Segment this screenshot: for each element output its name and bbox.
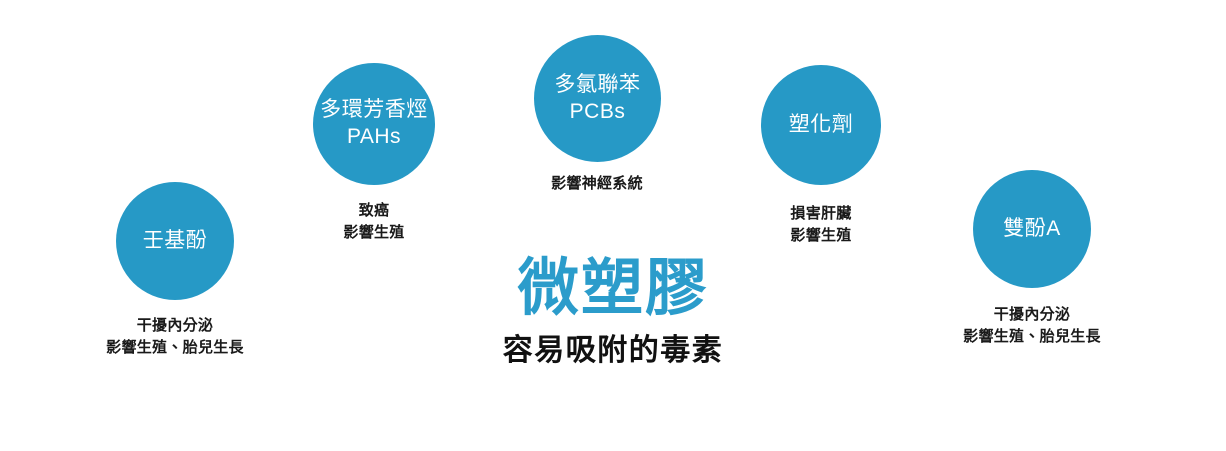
toxin-caption-nonylphenol: 干擾內分泌 影響生殖、胎兒生長 [55, 315, 295, 359]
page-title: 微塑膠 [413, 258, 813, 320]
toxin-bubble-label: 雙酚A [997, 216, 1067, 243]
toxin-bubble-pahs[interactable]: 多環芳香烴 PAHs [313, 63, 435, 185]
toxin-bubble-nonylphenol[interactable]: 壬基酚 [116, 182, 234, 300]
toxin-bubble-label: 多氯聯苯 PCBs [549, 72, 647, 126]
infographic-canvas: 壬基酚 干擾內分泌 影響生殖、胎兒生長 多環芳香烴 PAHs 致癌 影響生殖 多… [0, 0, 1226, 451]
toxin-bubble-plasticizer[interactable]: 塑化劑 [761, 65, 881, 185]
toxin-bubble-label: 壬基酚 [137, 228, 214, 255]
toxin-bubble-label: 塑化劑 [783, 112, 860, 139]
toxin-bubble-pcbs[interactable]: 多氯聯苯 PCBs [534, 35, 661, 162]
toxin-bubble-label: 多環芳香烴 PAHs [314, 97, 434, 151]
toxin-caption-plasticizer: 損害肝臟 影響生殖 [721, 203, 921, 247]
page-subtitle: 容易吸附的毒素 [413, 334, 813, 367]
toxin-caption-pcbs: 影響神經系統 [497, 173, 697, 195]
headline-block: 微塑膠 容易吸附的毒素 [413, 258, 813, 367]
toxin-caption-pahs: 致癌 影響生殖 [274, 200, 474, 244]
toxin-bubble-bisphenol-a[interactable]: 雙酚A [973, 170, 1091, 288]
toxin-caption-bisphenol-a: 干擾內分泌 影響生殖、胎兒生長 [912, 304, 1152, 348]
